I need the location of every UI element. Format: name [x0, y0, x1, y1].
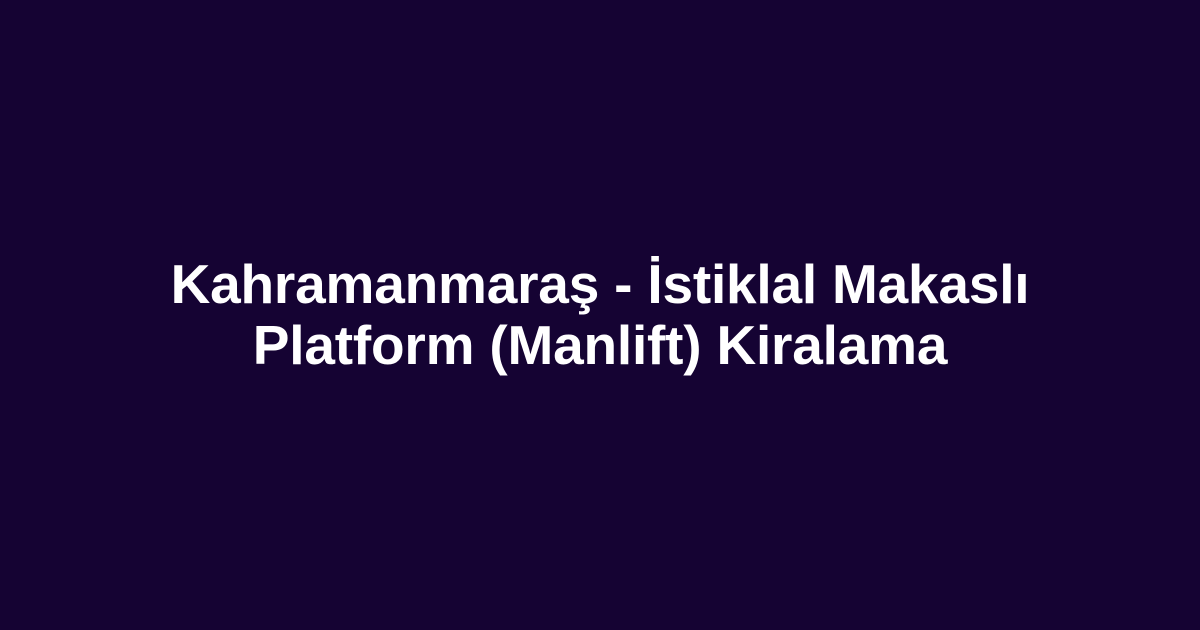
og-banner-card: Kahramanmaraş - İstiklal Makaslı Platfor… [0, 0, 1200, 630]
banner-content-container: Kahramanmaraş - İstiklal Makaslı Platfor… [80, 254, 1120, 376]
banner-title: Kahramanmaraş - İstiklal Makaslı Platfor… [170, 254, 1030, 376]
